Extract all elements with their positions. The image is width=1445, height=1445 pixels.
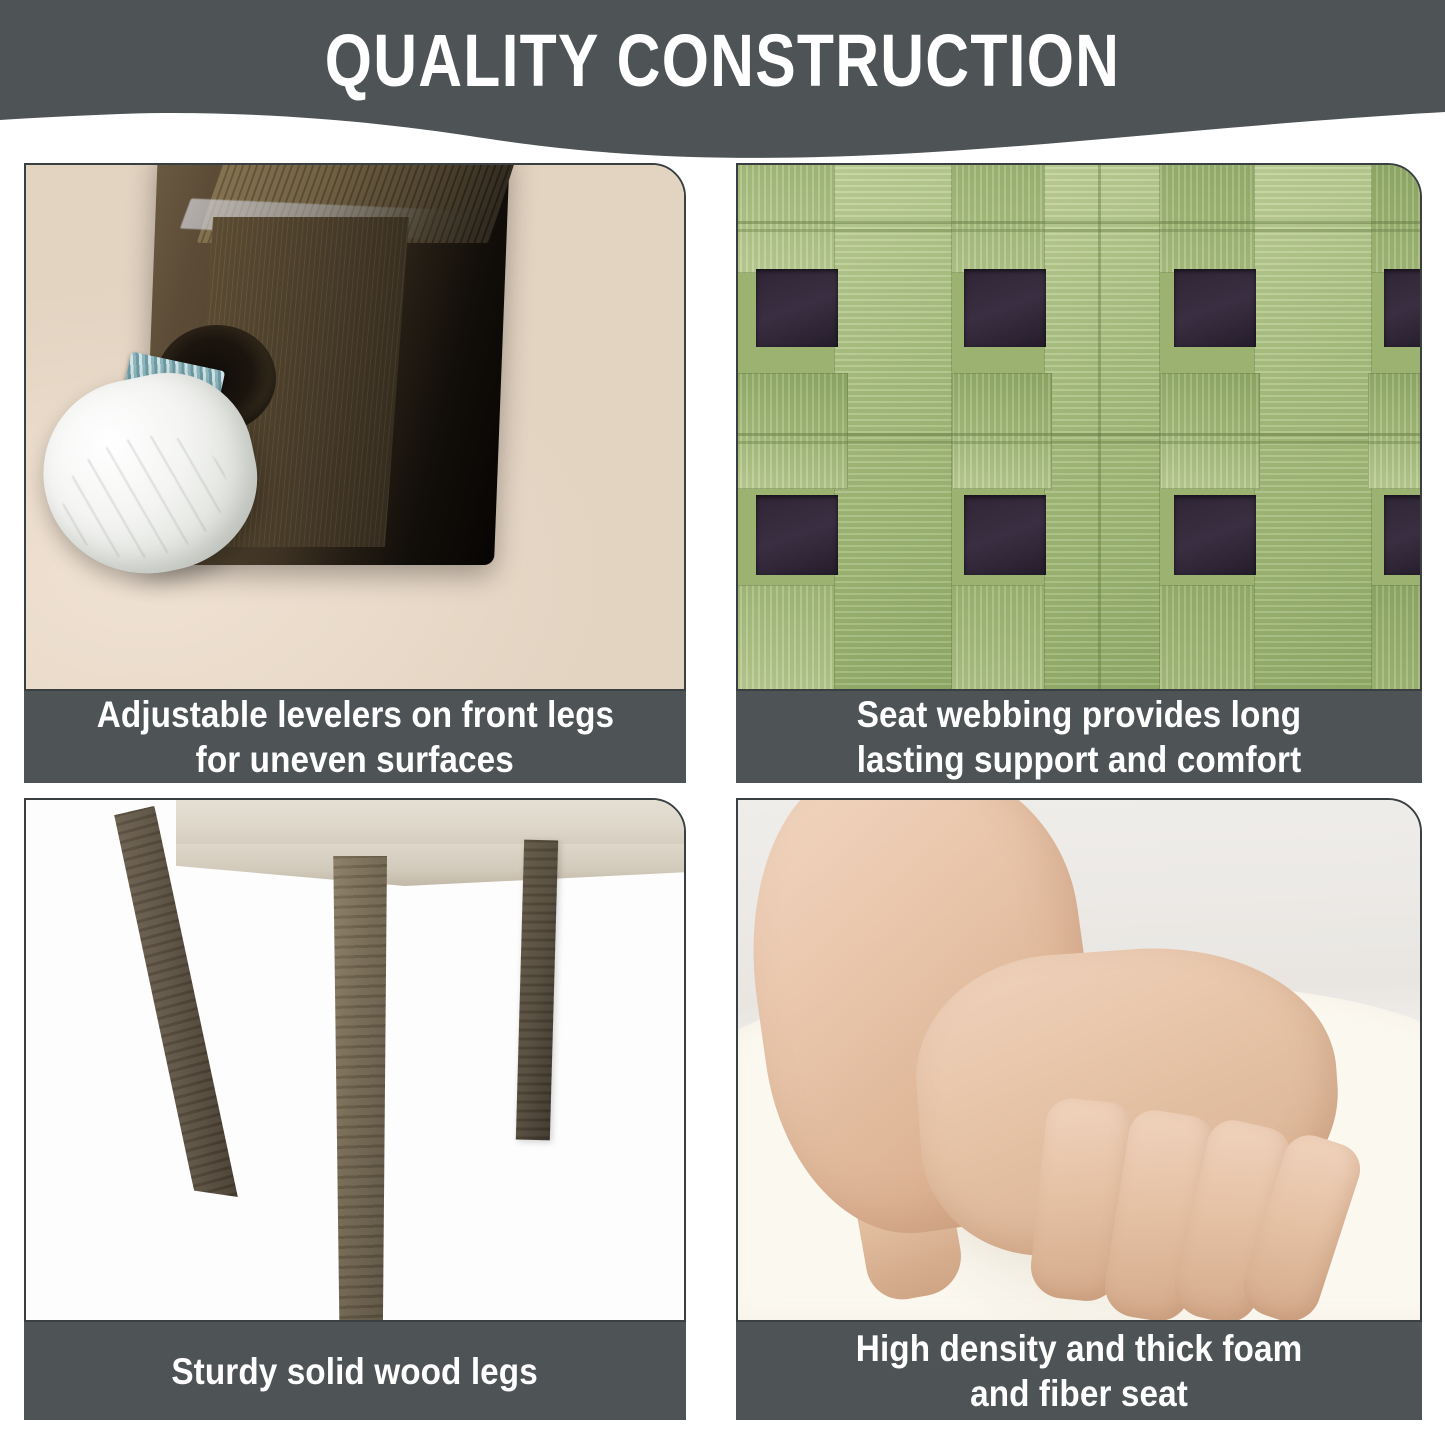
caption-adjustable-levelers: Adjustable levelers on front legs for un… [24, 691, 686, 783]
webbing-opening [964, 495, 1046, 575]
webbing-stitch-line [738, 221, 1420, 224]
webbing-opening [964, 269, 1046, 347]
infographic-page: QUALITY CONSTRUCTION Adjustable levelers… [0, 0, 1445, 1445]
caption-line-2: lasting support and comfort [857, 737, 1302, 782]
feature-card-adjustable-levelers: Adjustable levelers on front legs for un… [24, 163, 686, 783]
webbing-opening [756, 495, 838, 575]
page-title: QUALITY CONSTRUCTION [130, 22, 1315, 100]
feature-card-high-density-foam: High density and thick foam and fiber se… [736, 798, 1422, 1420]
webbing-opening [1384, 495, 1420, 575]
webbing-opening [756, 269, 838, 347]
caption-line-1: Seat webbing provides long [857, 692, 1302, 737]
webbing-strap-vertical [1254, 165, 1372, 689]
webbing-stitch-line [738, 433, 1420, 436]
webbing-stitch-line [738, 441, 1420, 444]
feature-card-solid-wood-legs: Sturdy solid wood legs [24, 798, 686, 1420]
webbing-strap-vertical [1044, 165, 1160, 689]
webbing-weave-overlap [1368, 373, 1420, 489]
webbing-strap-vertical [834, 165, 952, 689]
webbing-opening [1174, 269, 1256, 347]
webbing-weave-overlap [952, 373, 1052, 489]
caption-line-2: and fiber seat [970, 1371, 1188, 1416]
header-banner: QUALITY CONSTRUCTION [0, 0, 1445, 165]
webbing-weave-overlap [738, 373, 848, 489]
photo-adjustable-leveler [24, 163, 686, 691]
webbing-opening [1174, 495, 1256, 575]
photo-seat-webbing [736, 163, 1422, 691]
feature-card-seat-webbing: Seat webbing provides long lasting suppo… [736, 163, 1422, 783]
webbing-opening [1384, 269, 1420, 347]
caption-seat-webbing: Seat webbing provides long lasting suppo… [736, 691, 1422, 783]
wood-leg-front [331, 856, 387, 1320]
caption-line-1: Adjustable levelers on front legs [96, 692, 613, 737]
caption-line-1: Sturdy solid wood legs [172, 1349, 538, 1394]
photo-high-density-foam [736, 798, 1422, 1322]
photo-solid-wood-legs [24, 798, 686, 1322]
caption-line-2: for uneven surfaces [196, 737, 514, 782]
caption-high-density-foam: High density and thick foam and fiber se… [736, 1322, 1422, 1420]
webbing-stitch-line [1098, 165, 1101, 689]
webbing-weave-overlap [1160, 373, 1260, 489]
webbing-stitch-line [738, 229, 1420, 232]
caption-solid-wood-legs: Sturdy solid wood legs [24, 1322, 686, 1420]
caption-line-1: High density and thick foam [856, 1326, 1302, 1371]
